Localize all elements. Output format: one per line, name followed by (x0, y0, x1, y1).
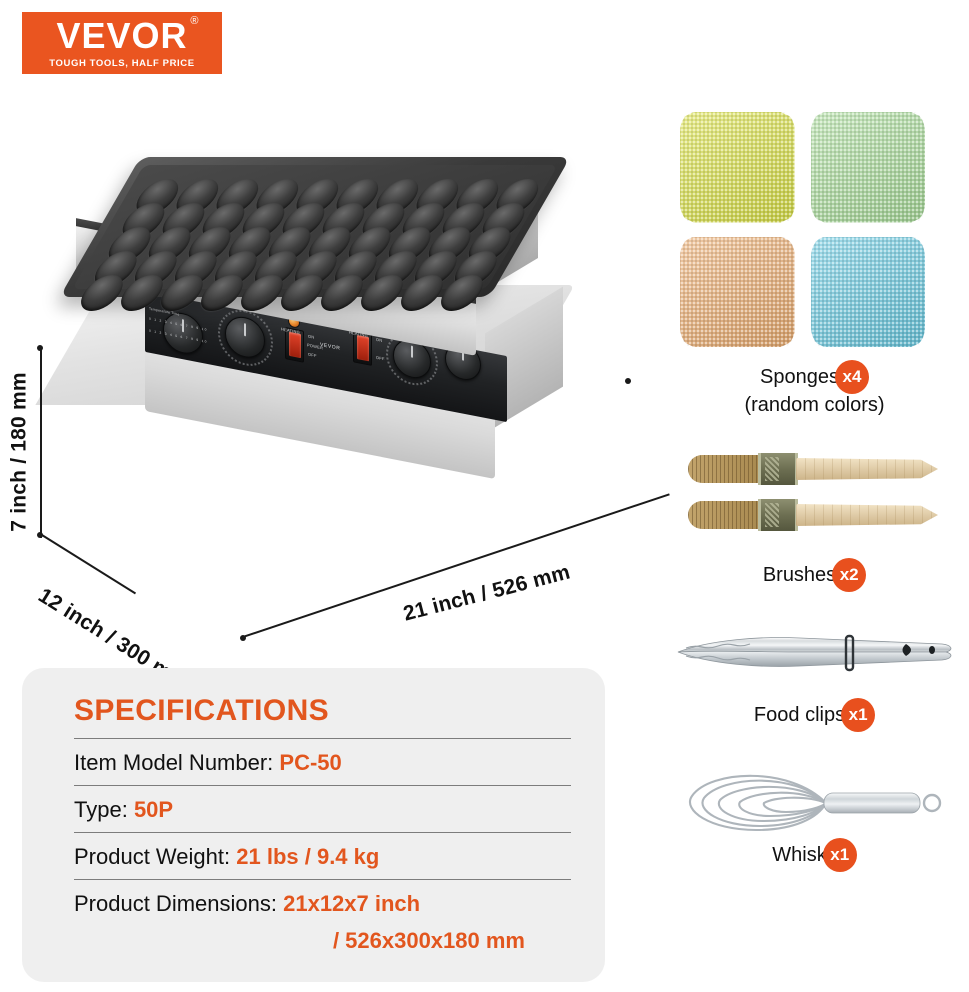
spec-row-dimensions: Product Dimensions: 21x12x7 inch (74, 879, 571, 926)
spec-row-dimensions-cont: / 526x300x180 mm (74, 926, 571, 954)
food-clips-image (670, 622, 960, 692)
spec-value-dimensions-mm: / 526x300x180 mm (333, 928, 525, 953)
spec-label-model: Item Model Number: (74, 750, 273, 775)
accessory-qty-badge-whisk: x1 (823, 838, 857, 872)
spec-label-type: Type: (74, 797, 128, 822)
sponge-swatch (680, 112, 795, 223)
dimension-label-width: 21 inch / 526 mm (401, 560, 573, 626)
accessory-qty-badge-food-clips: x1 (841, 698, 875, 732)
brush-bristles (688, 501, 762, 529)
spec-label-weight: Product Weight: (74, 844, 230, 869)
product-photo: HEATING HEATING ON OFF ON OFF POWER VEVO… (0, 95, 660, 595)
dimension-label-height: 7 inch / 180 mm (8, 372, 32, 531)
registered-mark-icon: ® (190, 16, 199, 27)
pastry-brush (688, 452, 938, 486)
sponge-swatch (680, 237, 795, 348)
accessory-qty-badge-sponges: x4 (835, 360, 869, 394)
dim-endpoint-dot (625, 378, 631, 384)
brushes-image (670, 450, 960, 550)
off-label-left: OFF (308, 352, 317, 359)
tongs-svg (670, 622, 960, 692)
spec-row-type: Type: 50P (74, 785, 571, 832)
accessory-label-brushes: Brushes (763, 562, 836, 589)
brand-tagline: TOUGH TOOLS, HALF PRICE (49, 58, 194, 69)
sponges-image (680, 112, 925, 347)
dimension-line-depth (40, 534, 136, 595)
sponge-swatch (811, 112, 926, 223)
accessory-label-sponges: Sponges (760, 364, 839, 391)
accessory-caption-whisk: Whisk x1 (660, 838, 969, 872)
griddle-plate (60, 157, 571, 297)
vevor-logo: VEVOR ® TOUGH TOOLS, HALF PRICE (22, 12, 222, 74)
accessory-qty-badge-brushes: x2 (832, 558, 866, 592)
spec-value-type: 50P (134, 797, 173, 822)
sponge-swatch (811, 237, 926, 348)
brush-ferrule (758, 499, 798, 531)
whisk-svg (670, 768, 960, 838)
spec-value-weight: 21 lbs / 9.4 kg (236, 844, 379, 869)
spec-value-dimensions: 21x12x7 inch (283, 891, 420, 916)
on-label-left: ON (308, 334, 314, 340)
off-label-right: OFF (376, 355, 385, 362)
dimension-line-height (40, 348, 42, 538)
brand-name: VEVOR (56, 15, 187, 56)
brush-handle (796, 458, 938, 480)
griddle-plate-surface (72, 165, 558, 289)
spec-label-dimensions: Product Dimensions: (74, 891, 277, 916)
brush-bristles (688, 455, 762, 483)
specifications-title: SPECIFICATIONS (74, 694, 571, 728)
accessory-caption-sponges: Sponges x4 (random colors) (660, 360, 969, 417)
accessory-label-food-clips: Food clips (754, 702, 845, 729)
spec-row-weight: Product Weight: 21 lbs / 9.4 kg (74, 832, 571, 879)
whisk-image (670, 768, 960, 838)
specifications-panel: SPECIFICATIONS Item Model Number: PC-50 … (22, 668, 605, 982)
accessories-column: Sponges x4 (random colors) Brushes x2 (660, 0, 969, 992)
accessory-note-sponges: (random colors) (660, 394, 969, 417)
brand-wordmark: VEVOR ® (56, 18, 187, 54)
accessory-caption-brushes: Brushes x2 (660, 558, 969, 592)
brush-handle (796, 504, 938, 526)
spec-value-model: PC-50 (279, 750, 341, 775)
pastry-brush (688, 498, 938, 532)
spec-row-model: Item Model Number: PC-50 (74, 738, 571, 785)
accessory-caption-food-clips: Food clips x1 (660, 698, 969, 732)
dimension-line-width (242, 494, 669, 638)
brush-ferrule (758, 453, 798, 485)
accessory-label-whisk: Whisk (772, 842, 826, 869)
